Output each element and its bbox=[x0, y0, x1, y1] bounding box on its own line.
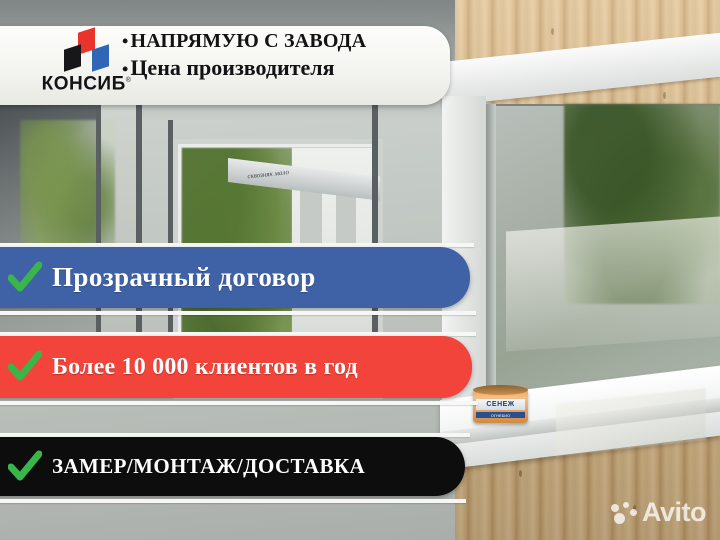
can-lid bbox=[473, 385, 528, 395]
can-label: СЕНЕЖ bbox=[476, 399, 525, 410]
avito-watermark: Avito bbox=[611, 499, 706, 526]
glass-reflection bbox=[506, 217, 720, 352]
avito-logo-icon bbox=[611, 502, 637, 524]
banner-strip-bottom-2 bbox=[0, 401, 478, 405]
avito-watermark-text: Avito bbox=[642, 499, 706, 526]
header-bullet-1: • НАПРЯМУЮ С ЗАВОДА bbox=[122, 28, 452, 54]
header-bullet-list: • НАПРЯМУЮ С ЗАВОДА • Цена производителя bbox=[122, 28, 452, 82]
feature-banner-services: ЗАМЕР/МОНТАЖ/ДОСТАВКА bbox=[0, 437, 465, 496]
feature-banner-contract: Прозрачный договор bbox=[0, 247, 470, 308]
rhombus-black-icon bbox=[64, 44, 81, 72]
feature-banner-contract-label: Прозрачный договор bbox=[52, 262, 316, 293]
feature-banner-clients: Более 10 000 клиентов в год bbox=[0, 336, 472, 398]
brand-name-text: КОНСИБ bbox=[42, 73, 126, 94]
bullet-dot-icon: • bbox=[122, 32, 129, 50]
bullet-dot-icon: • bbox=[122, 60, 128, 78]
can-band-label: ОГНЕБИО bbox=[476, 412, 525, 418]
header-bullet-2-label: Цена производителя bbox=[130, 54, 334, 82]
feature-banner-clients-label: Более 10 000 клиентов в год bbox=[52, 354, 358, 381]
brand-name: КОНСИБ® bbox=[42, 71, 132, 93]
banner-strip-bottom-1 bbox=[0, 311, 476, 315]
logo-marks-icon bbox=[59, 30, 115, 70]
banner-strip-bottom-3 bbox=[0, 499, 466, 503]
header-bullet-2: • Цена производителя bbox=[122, 54, 452, 82]
listing-image: сквозняк мало СЕНЕЖ ОГНЕБИО bbox=[0, 0, 720, 540]
check-icon bbox=[8, 350, 42, 384]
rhombus-blue-icon bbox=[92, 44, 109, 72]
feature-banner-services-label: ЗАМЕР/МОНТАЖ/ДОСТАВКА bbox=[52, 454, 365, 479]
check-icon bbox=[8, 450, 42, 484]
check-icon bbox=[8, 261, 42, 295]
sealant-can: СЕНЕЖ ОГНЕБИО bbox=[473, 389, 528, 423]
header-bullet-1-label: НАПРЯМУЮ С ЗАВОДА bbox=[131, 28, 367, 54]
